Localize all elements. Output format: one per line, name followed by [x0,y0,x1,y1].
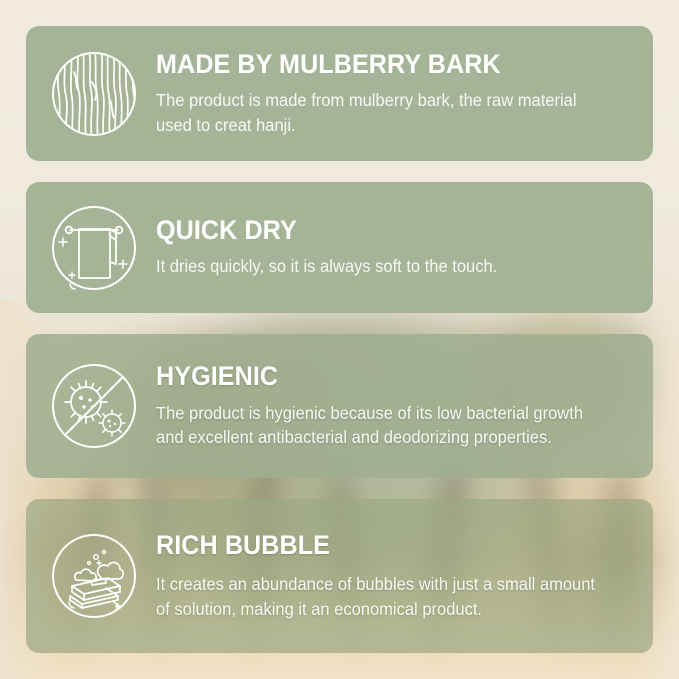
feature-card-body: HYGIENIC The product is hygienic because… [156,362,633,450]
feature-description: The product is made from mulberry bark, … [156,88,609,137]
feature-card-body: RICH BUBBLE It creates an abundance of b… [156,531,633,622]
feature-title: MADE BY MULBERRY BARK [156,50,600,79]
feature-description: It dries quickly, so it is always soft t… [156,254,609,279]
feature-title: HYGIENIC [156,362,600,391]
feature-description: The product is hygienic because of its l… [156,401,609,450]
no-germs-icon [48,360,140,452]
feature-card-quick-dry[interactable]: QUICK DRY It dries quickly, so it is alw… [26,182,653,313]
feature-card-hygienic[interactable]: HYGIENIC The product is hygienic because… [26,334,653,478]
feature-title: RICH BUBBLE [156,531,600,560]
feature-card-rich-bubble[interactable]: RICH BUBBLE It creates an abundance of b… [26,499,653,653]
feature-title: QUICK DRY [156,216,600,245]
hanging-towel-icon [48,202,140,294]
foamy-towels-icon [48,530,140,622]
feature-card-list: MADE BY MULBERRY BARK The product is mad… [0,0,679,679]
feature-list-page: MADE BY MULBERRY BARK The product is mad… [0,0,679,679]
feature-card-made-by-mulberry-bark[interactable]: MADE BY MULBERRY BARK The product is mad… [26,26,653,161]
feature-card-body: MADE BY MULBERRY BARK The product is mad… [156,50,633,138]
feature-description: It creates an abundance of bubbles with … [156,572,609,621]
feature-card-body: QUICK DRY It dries quickly, so it is alw… [156,216,633,279]
bark-texture-icon [48,48,140,140]
